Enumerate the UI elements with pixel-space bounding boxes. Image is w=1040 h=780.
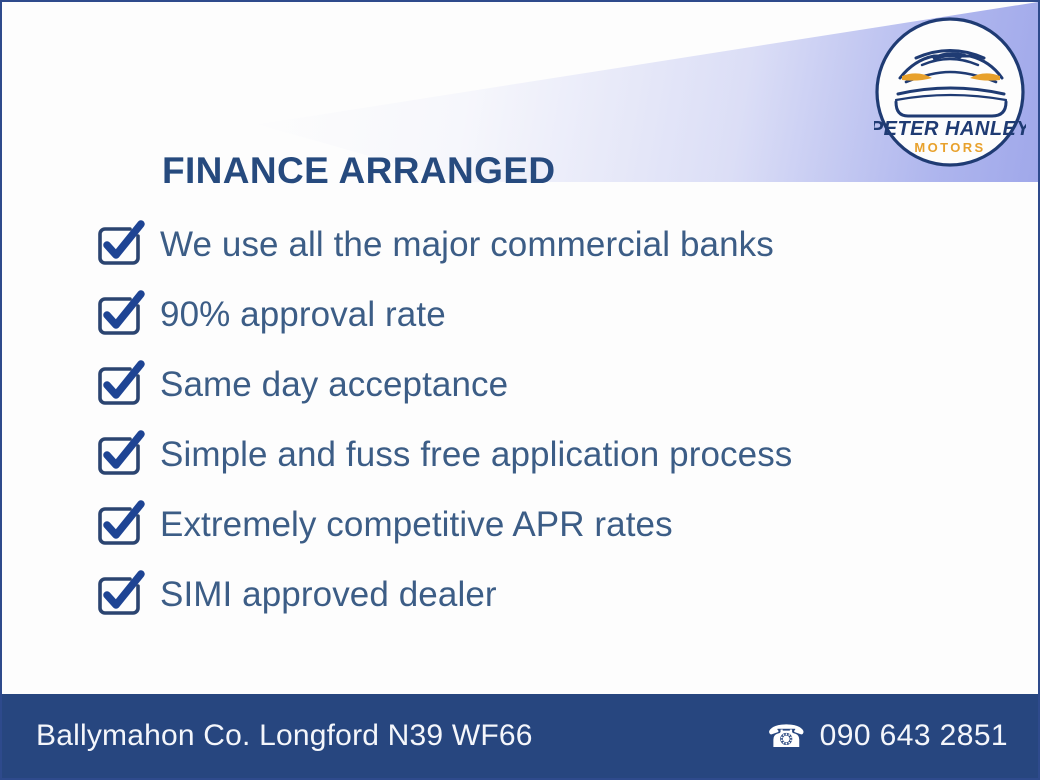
- list-item-label: 90% approval rate: [160, 297, 446, 332]
- list-item: Extremely competitive APR rates: [94, 489, 994, 559]
- address-text: Ballymahon Co. Longford N39 WF66: [36, 719, 533, 753]
- list-item: Simple and fuss free application process: [94, 419, 994, 489]
- list-item-label: Same day acceptance: [160, 367, 508, 402]
- list-item: SIMI approved dealer: [94, 559, 994, 629]
- list-item: We use all the major commercial banks: [94, 209, 994, 279]
- checkbox-checked-icon: [94, 220, 146, 268]
- logo-wordmark-secondary: MOTORS: [914, 140, 985, 155]
- list-item: 90% approval rate: [94, 279, 994, 349]
- advert-banner: PETER HANLEY MOTORS FINANCE ARRANGED We …: [0, 0, 1040, 780]
- page-title: FINANCE ARRANGED: [162, 150, 556, 192]
- checkbox-checked-icon: [94, 570, 146, 618]
- telephone-icon: ☎: [767, 721, 806, 752]
- checkbox-checked-icon: [94, 290, 146, 338]
- list-item-label: Simple and fuss free application process: [160, 437, 792, 472]
- checkbox-checked-icon: [94, 500, 146, 548]
- checkbox-checked-icon: [94, 430, 146, 478]
- checkbox-checked-icon: [94, 360, 146, 408]
- logo-wordmark-primary: PETER HANLEY: [874, 118, 1026, 140]
- logo-svg: PETER HANLEY MOTORS: [874, 16, 1026, 168]
- list-item-label: We use all the major commercial banks: [160, 227, 774, 262]
- contact-footer-bar: Ballymahon Co. Longford N39 WF66 ☎ 090 6…: [2, 694, 1038, 778]
- phone-contact[interactable]: ☎ 090 643 2851: [767, 719, 1008, 753]
- benefits-checklist: We use all the major commercial banks 90…: [94, 209, 994, 629]
- list-item-label: SIMI approved dealer: [160, 577, 497, 612]
- list-item: Same day acceptance: [94, 349, 994, 419]
- list-item-label: Extremely competitive APR rates: [160, 507, 673, 542]
- peter-hanley-motors-logo[interactable]: PETER HANLEY MOTORS: [874, 16, 1026, 168]
- phone-number-text[interactable]: 090 643 2851: [820, 719, 1008, 753]
